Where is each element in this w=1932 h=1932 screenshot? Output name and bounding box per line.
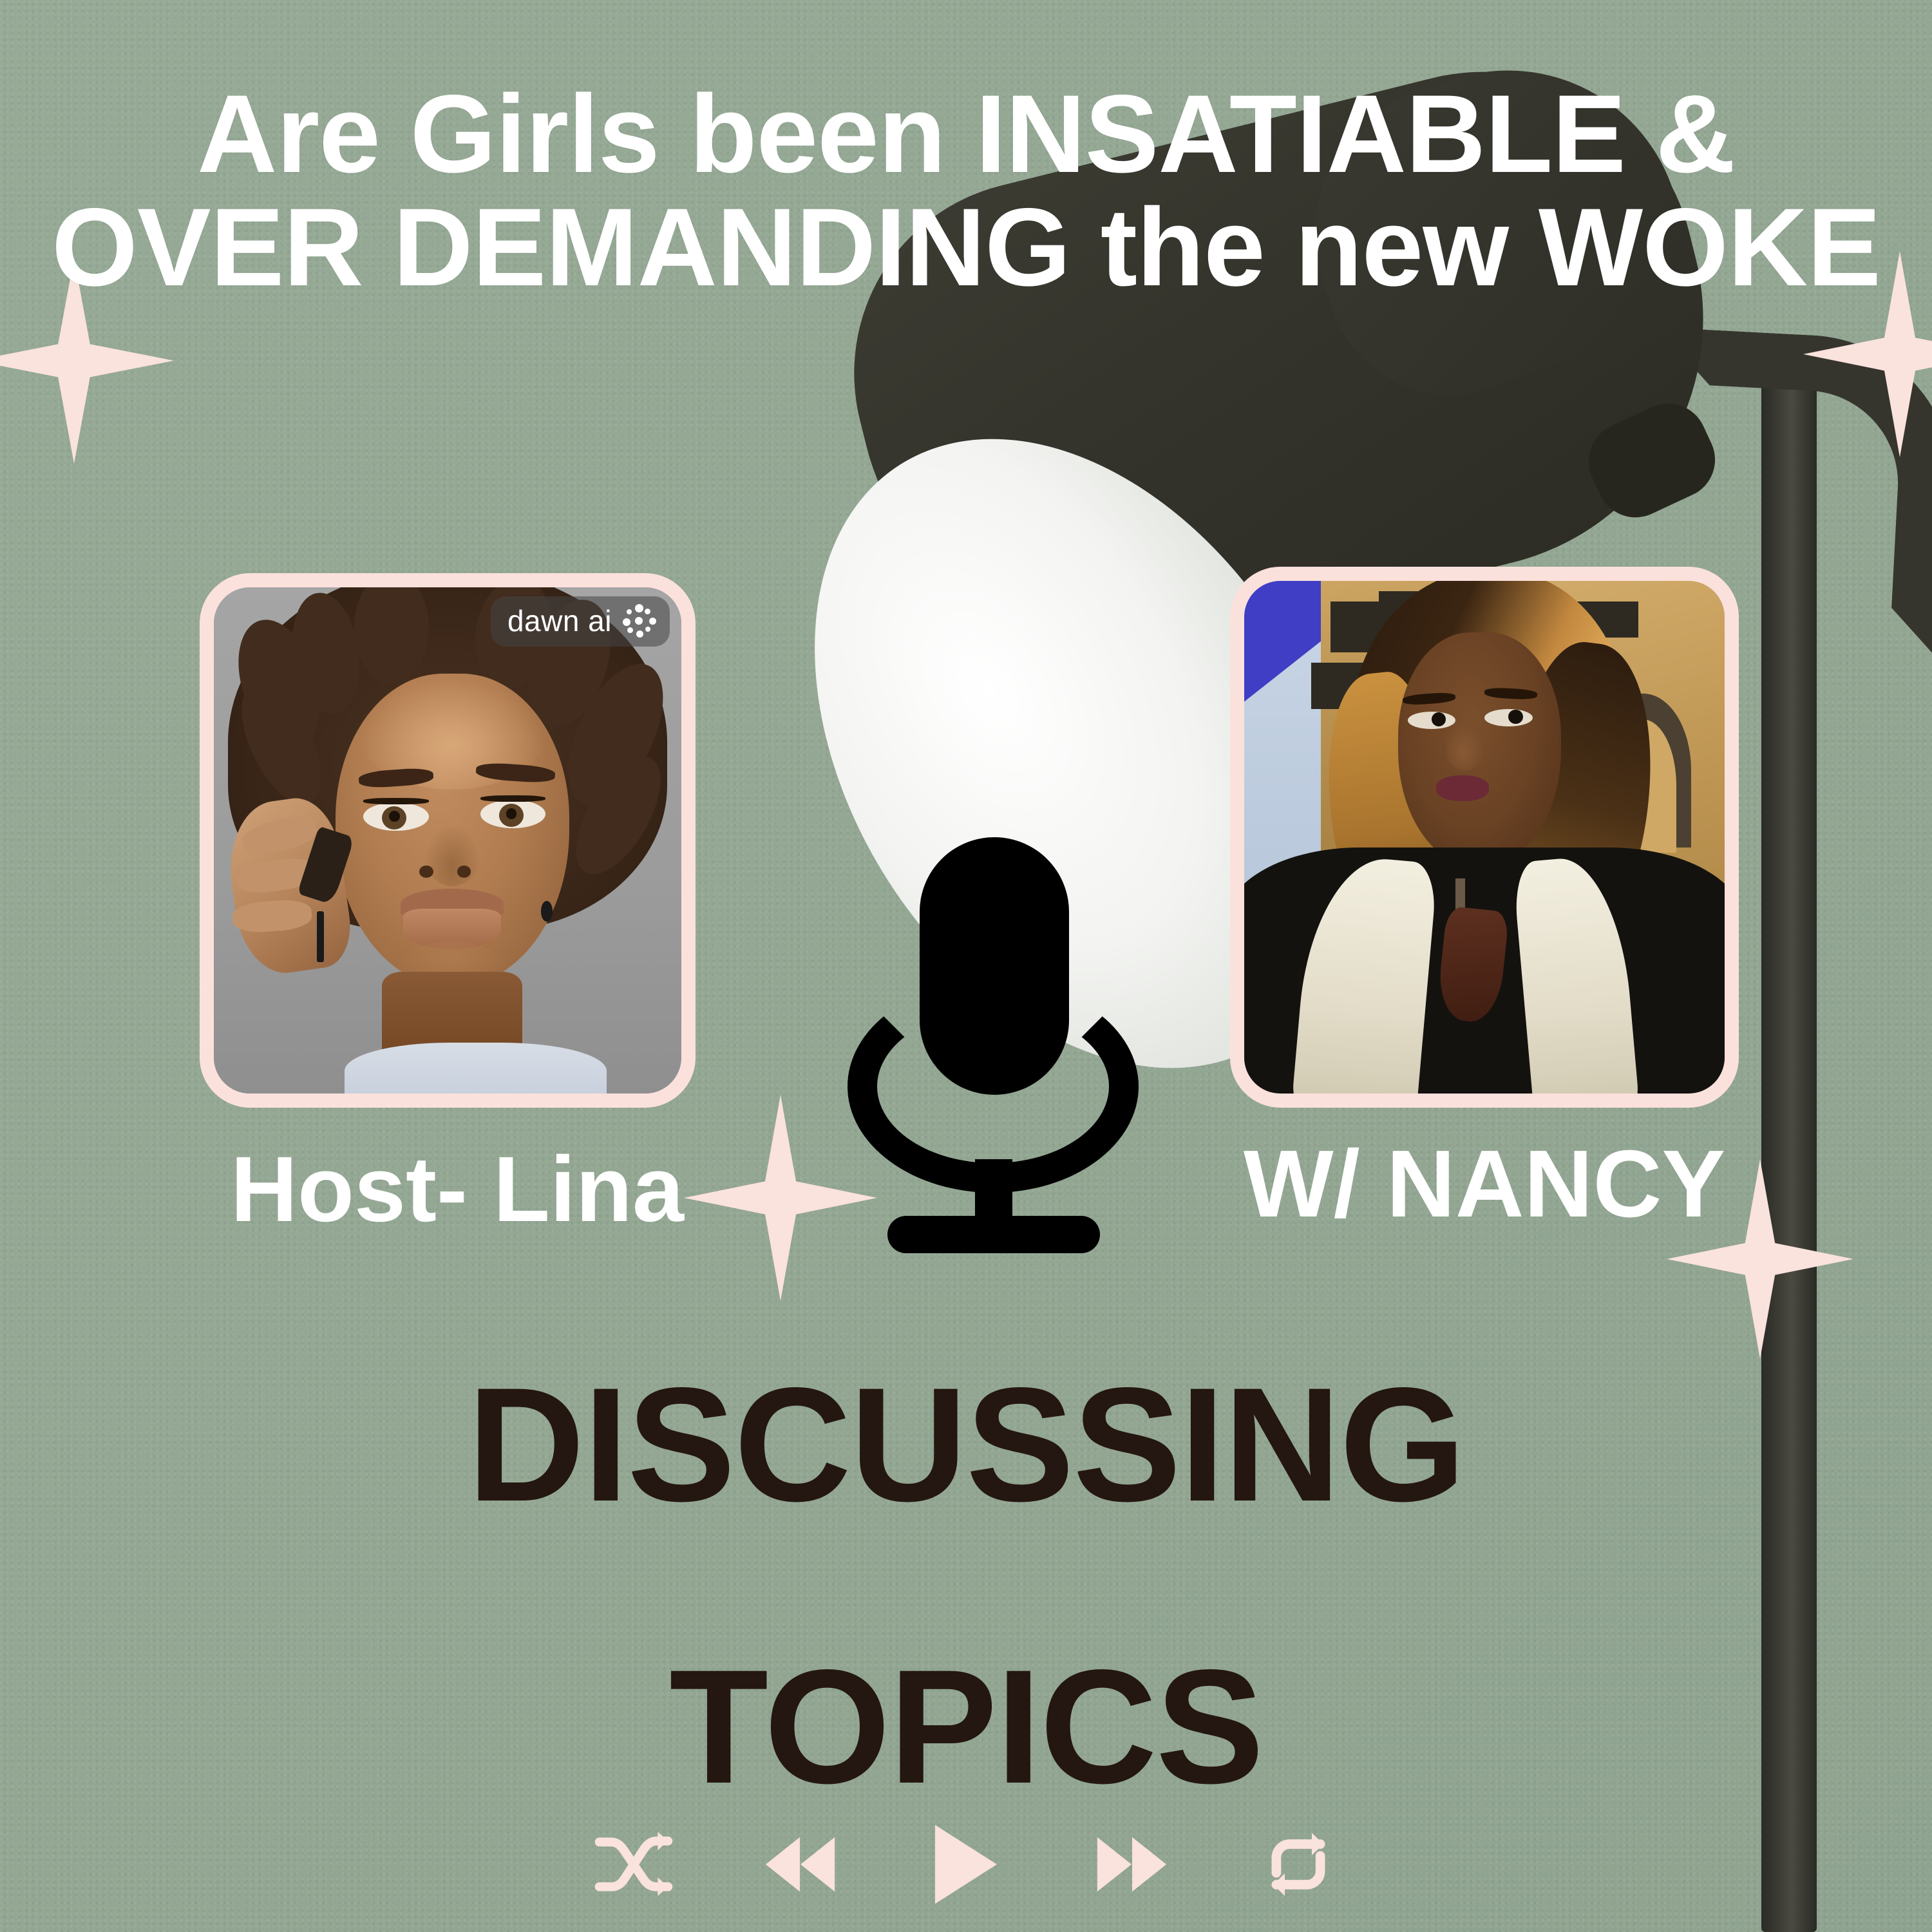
host-photo: dawn ai — [214, 587, 681, 1094]
microphone-icon — [837, 837, 1146, 1262]
guest-name-label: W/ NANCY — [1201, 1137, 1768, 1232]
shuffle-icon[interactable] — [592, 1823, 676, 1906]
discussing-heading: DISCUSSING — [0, 1364, 1932, 1526]
dawn-ai-label: dawn ai — [507, 606, 612, 636]
dawn-ai-watermark: dawn ai — [491, 596, 670, 647]
host-photo-card[interactable]: dawn ai — [200, 573, 696, 1108]
topics-heading: TOPICS — [0, 1646, 1932, 1808]
host-name-label: Host- Lina — [200, 1143, 715, 1236]
player-controls — [0, 1823, 1932, 1906]
guest-photo-card[interactable] — [1230, 567, 1739, 1108]
repeat-icon[interactable] — [1256, 1823, 1340, 1906]
rewind-icon[interactable] — [758, 1823, 842, 1906]
fast-forward-icon[interactable] — [1090, 1823, 1174, 1906]
guest-photo — [1244, 581, 1725, 1094]
page-title: Are Girls been INSATIABLE & OVER DEMANDI… — [0, 78, 1932, 304]
podcast-cover-poster: Are Girls been INSATIABLE & OVER DEMANDI… — [0, 0, 1932, 1932]
microphone-base — [887, 1216, 1100, 1253]
dawn-ai-dots-logo — [622, 604, 656, 638]
play-icon[interactable] — [924, 1823, 1008, 1906]
